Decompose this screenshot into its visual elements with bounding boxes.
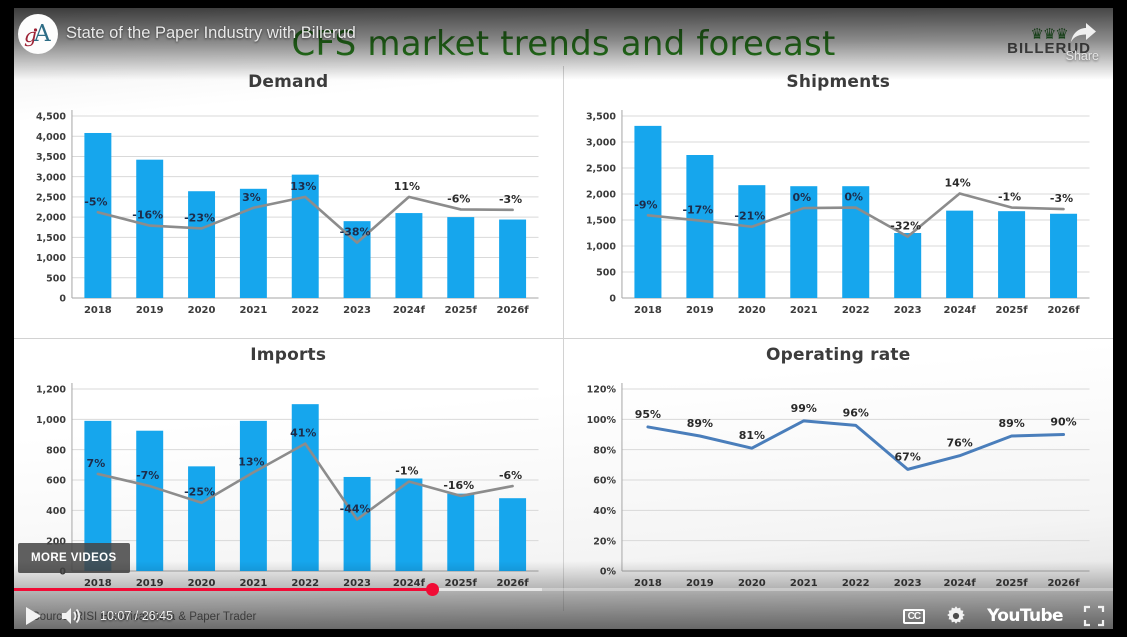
svg-text:95%: 95% xyxy=(634,407,660,420)
svg-text:2021: 2021 xyxy=(789,305,817,316)
plot-demand: 05001,0001,5002,0002,5003,0003,5004,0004… xyxy=(24,94,553,322)
svg-text:-3%: -3% xyxy=(1049,192,1072,205)
svg-text:-3%: -3% xyxy=(499,193,522,206)
svg-text:13%: 13% xyxy=(238,455,264,468)
svg-text:4,500: 4,500 xyxy=(36,112,66,123)
svg-text:-1%: -1% xyxy=(395,464,418,477)
svg-text:1,000: 1,000 xyxy=(36,253,66,264)
svg-text:2019: 2019 xyxy=(685,305,713,316)
svg-text:400: 400 xyxy=(46,505,66,516)
svg-text:2019: 2019 xyxy=(136,305,164,316)
svg-text:2020: 2020 xyxy=(737,305,765,316)
svg-text:89%: 89% xyxy=(998,417,1024,430)
svg-text:500: 500 xyxy=(596,268,616,279)
svg-text:2,500: 2,500 xyxy=(585,164,615,175)
svg-text:2020: 2020 xyxy=(188,305,216,316)
svg-text:3,500: 3,500 xyxy=(585,112,615,123)
svg-text:2026f: 2026f xyxy=(1047,305,1080,316)
svg-text:3%: 3% xyxy=(242,191,261,204)
svg-text:7%: 7% xyxy=(87,456,106,469)
more-videos-button[interactable]: MORE VIDEOS xyxy=(18,543,130,573)
svg-text:-6%: -6% xyxy=(447,192,470,205)
chart-panel-shipments: Shipments 05001,0001,5002,0002,5003,0003… xyxy=(564,66,1114,339)
chart-panel-operating-rate: Operating rate 0%20%40%60%80%100%120%95%… xyxy=(564,339,1114,612)
svg-text:1,000: 1,000 xyxy=(36,414,66,425)
svg-text:-1%: -1% xyxy=(997,191,1020,204)
svg-text:99%: 99% xyxy=(790,401,816,414)
svg-text:-16%: -16% xyxy=(132,209,163,222)
svg-text:2022: 2022 xyxy=(291,305,319,316)
video-title[interactable]: State of the Paper Industry with Billeru… xyxy=(66,24,356,43)
chart-title-demand: Demand xyxy=(24,72,553,92)
svg-text:3,500: 3,500 xyxy=(36,152,66,163)
svg-text:3,000: 3,000 xyxy=(36,172,66,183)
svg-text:-23%: -23% xyxy=(184,211,215,224)
svg-text:3,000: 3,000 xyxy=(585,138,615,149)
svg-text:40%: 40% xyxy=(593,505,616,516)
svg-text:500: 500 xyxy=(46,273,66,284)
settings-button[interactable] xyxy=(945,605,967,627)
youtube-player[interactable]: CFS market trends and forecast ♛♛♛ BILLE… xyxy=(0,0,1127,637)
play-button[interactable] xyxy=(22,605,44,627)
progress-bar[interactable] xyxy=(14,587,1113,592)
svg-text:81%: 81% xyxy=(738,429,764,442)
youtube-wordmark[interactable]: YouTube xyxy=(987,606,1063,626)
svg-text:2,000: 2,000 xyxy=(36,213,66,224)
svg-text:2023: 2023 xyxy=(343,305,371,316)
captions-button[interactable]: CC xyxy=(903,609,925,624)
svg-text:20%: 20% xyxy=(593,536,616,547)
svg-text:-17%: -17% xyxy=(682,204,713,217)
svg-text:4,000: 4,000 xyxy=(36,132,66,143)
chart-title-imports: Imports xyxy=(24,345,553,365)
svg-text:2025f: 2025f xyxy=(995,305,1028,316)
svg-text:1,500: 1,500 xyxy=(585,216,615,227)
chart-svg-operating-rate: 0%20%40%60%80%100%120%95%89%81%99%96%67%… xyxy=(574,367,1104,595)
chart-svg-demand: 05001,0001,5002,0002,5003,0003,5004,0004… xyxy=(24,94,553,322)
svg-text:-6%: -6% xyxy=(499,469,522,482)
svg-text:-38%: -38% xyxy=(340,226,371,239)
svg-text:1,200: 1,200 xyxy=(36,384,66,395)
svg-text:0: 0 xyxy=(59,294,66,305)
svg-text:80%: 80% xyxy=(593,445,616,456)
fullscreen-icon xyxy=(1083,605,1105,627)
video-slide: CFS market trends and forecast ♛♛♛ BILLE… xyxy=(14,8,1113,629)
svg-text:13%: 13% xyxy=(290,180,316,193)
plot-operating-rate: 0%20%40%60%80%100%120%95%89%81%99%96%67%… xyxy=(574,367,1104,595)
svg-text:120%: 120% xyxy=(586,384,616,395)
svg-text:A: A xyxy=(33,21,51,47)
svg-text:2018: 2018 xyxy=(634,305,662,316)
svg-text:-32%: -32% xyxy=(890,220,921,233)
chart-grid: Demand 05001,0001,5002,0002,5003,0003,50… xyxy=(14,66,1113,611)
chart-title-operating-rate: Operating rate xyxy=(574,345,1104,365)
volume-icon xyxy=(60,605,84,627)
time-display: 10:07 / 26:45 xyxy=(100,609,173,623)
progress-scrubber-handle[interactable] xyxy=(426,583,439,596)
svg-text:-21%: -21% xyxy=(734,210,765,223)
svg-text:2,500: 2,500 xyxy=(36,192,66,203)
svg-text:67%: 67% xyxy=(894,450,920,463)
svg-text:-9%: -9% xyxy=(634,198,657,211)
svg-text:96%: 96% xyxy=(842,406,868,419)
svg-text:76%: 76% xyxy=(946,436,972,449)
progress-played xyxy=(14,588,432,591)
svg-text:2024f: 2024f xyxy=(393,305,426,316)
svg-text:100%: 100% xyxy=(586,414,616,425)
svg-text:2018: 2018 xyxy=(84,305,112,316)
svg-text:600: 600 xyxy=(46,475,66,486)
svg-text:-25%: -25% xyxy=(184,485,215,498)
svg-text:2023: 2023 xyxy=(893,305,921,316)
svg-text:0%: 0% xyxy=(844,191,863,204)
svg-text:-16%: -16% xyxy=(443,478,474,491)
captions-icon: CC xyxy=(903,609,925,624)
svg-text:2025f: 2025f xyxy=(445,305,478,316)
fullscreen-button[interactable] xyxy=(1083,605,1105,627)
svg-text:90%: 90% xyxy=(1050,415,1076,428)
svg-text:2022: 2022 xyxy=(841,305,869,316)
svg-text:-44%: -44% xyxy=(340,502,371,515)
svg-text:800: 800 xyxy=(46,445,66,456)
player-controls-left: 10:07 / 26:45 xyxy=(22,605,173,627)
svg-text:2,000: 2,000 xyxy=(585,190,615,201)
plot-shipments: 05001,0001,5002,0002,5003,0003,500-9%-17… xyxy=(574,94,1104,322)
chart-panel-demand: Demand 05001,0001,5002,0002,5003,0003,50… xyxy=(14,66,564,339)
svg-text:2024f: 2024f xyxy=(943,305,976,316)
svg-text:11%: 11% xyxy=(394,180,420,193)
share-label: Share xyxy=(1066,49,1099,63)
chart-svg-shipments: 05001,0001,5002,0002,5003,0003,500-9%-17… xyxy=(574,94,1104,322)
svg-text:0%: 0% xyxy=(792,191,811,204)
share-button[interactable]: Share xyxy=(1066,22,1099,63)
svg-text:1,000: 1,000 xyxy=(585,242,615,253)
chart-title-shipments: Shipments xyxy=(574,72,1104,92)
gear-icon xyxy=(945,605,967,627)
svg-text:14%: 14% xyxy=(944,176,970,189)
svg-text:2021: 2021 xyxy=(240,305,268,316)
share-arrow-icon xyxy=(1067,22,1097,46)
volume-button[interactable] xyxy=(60,605,84,627)
svg-text:41%: 41% xyxy=(290,426,316,439)
svg-text:0: 0 xyxy=(609,294,616,305)
svg-text:89%: 89% xyxy=(686,417,712,430)
play-icon xyxy=(22,605,44,627)
svg-text:60%: 60% xyxy=(593,475,616,486)
svg-text:-5%: -5% xyxy=(84,195,107,208)
avatar[interactable]: g A xyxy=(18,14,58,54)
svg-text:0%: 0% xyxy=(599,566,616,577)
player-controls-right: CC YouTube xyxy=(903,605,1105,627)
svg-text:2026f: 2026f xyxy=(497,305,530,316)
svg-text:1,500: 1,500 xyxy=(36,233,66,244)
channel-logo-icon: g A xyxy=(21,17,55,51)
svg-text:-7%: -7% xyxy=(136,469,159,482)
